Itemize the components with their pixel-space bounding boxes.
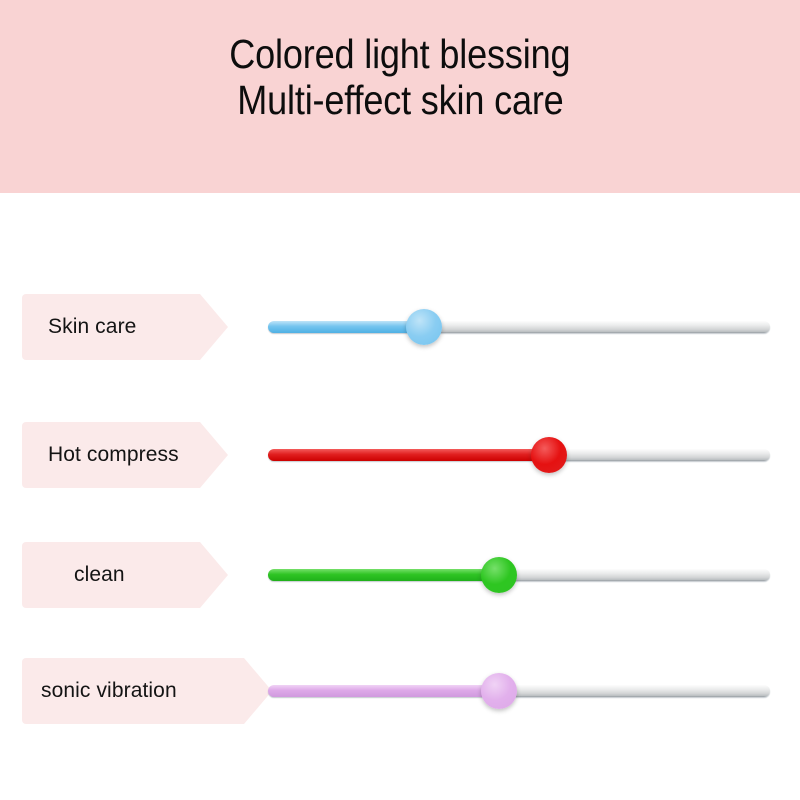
slider-sonic-vibration[interactable] — [268, 685, 770, 697]
feature-label-clean: clean — [22, 542, 228, 608]
slider-fill — [268, 449, 549, 461]
page-title-line-1: Colored light blessing — [229, 31, 570, 77]
slider-fill — [268, 321, 424, 333]
feature-row: sonic vibration — [0, 658, 800, 724]
slider-fill — [268, 685, 499, 697]
slider-clean[interactable] — [268, 569, 770, 581]
feature-list: Skin care Hot compress clean — [0, 193, 800, 800]
slider-thumb[interactable] — [531, 437, 567, 473]
feature-row: clean — [0, 542, 800, 608]
feature-label-text: Skin care — [48, 315, 136, 339]
feature-label-sonic-vibration: sonic vibration — [22, 658, 272, 724]
header-banner: Colored light blessing Multi-effect skin… — [0, 0, 800, 193]
slider-skin-care[interactable] — [268, 321, 770, 333]
feature-row: Skin care — [0, 294, 800, 360]
slider-thumb[interactable] — [481, 673, 517, 709]
feature-label-hot-compress: Hot compress — [22, 422, 228, 488]
feature-label-text: clean — [74, 563, 125, 587]
feature-label-text: Hot compress — [48, 443, 179, 467]
feature-row: Hot compress — [0, 422, 800, 488]
slider-hot-compress[interactable] — [268, 449, 770, 461]
feature-label-skin-care: Skin care — [22, 294, 228, 360]
page-title-line-2: Multi-effect skin care — [237, 77, 563, 123]
slider-thumb[interactable] — [481, 557, 517, 593]
feature-label-text: sonic vibration — [41, 679, 177, 703]
slider-fill — [268, 569, 499, 581]
slider-thumb[interactable] — [406, 309, 442, 345]
